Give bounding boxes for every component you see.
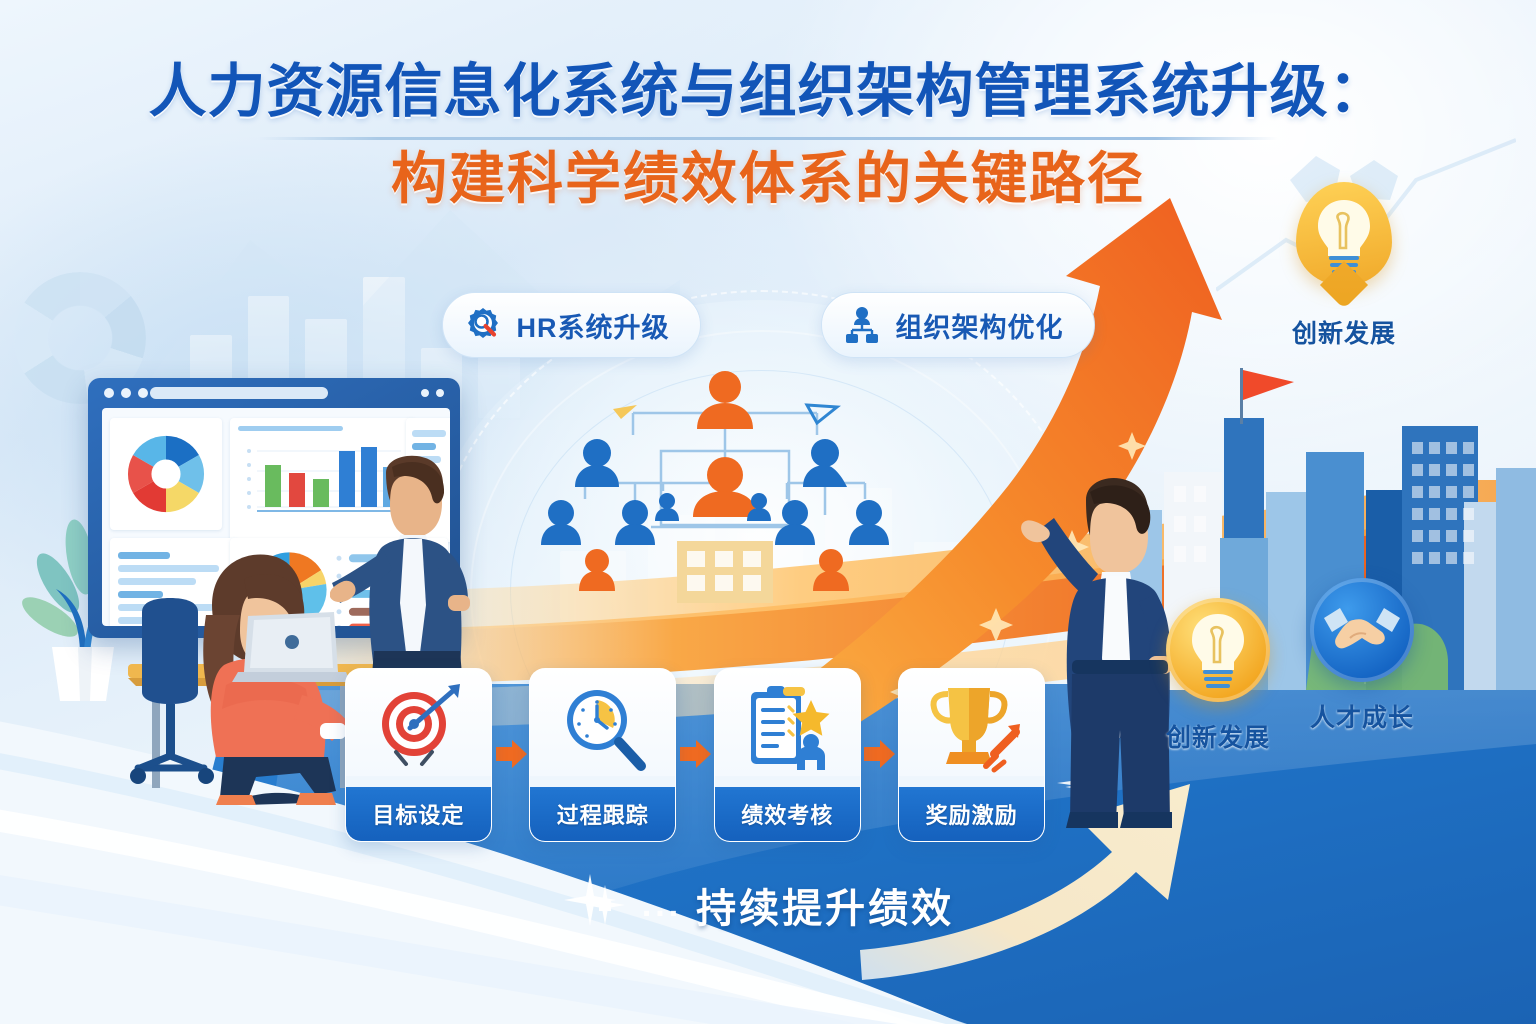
clock-magnifier-icon xyxy=(555,680,651,776)
process-arrow-icon xyxy=(492,668,530,840)
process-card-row: 目标设定 xyxy=(345,668,1045,840)
lightbulb-circle-icon xyxy=(1166,598,1270,702)
org-node-root xyxy=(697,371,753,429)
feature-talent-growth[interactable]: 人才成长 xyxy=(1310,578,1414,734)
bottom-caption: ... 持续提升绩效 xyxy=(0,876,1536,934)
target-dart-icon xyxy=(370,680,466,776)
window-dots-icon xyxy=(104,388,148,398)
process-card-process-tracking[interactable]: 过程跟踪 xyxy=(529,668,676,842)
window-urlbar xyxy=(150,387,328,399)
badge-hr-system-upgrade[interactable]: HR系统升级 xyxy=(442,292,701,358)
process-card-label: 奖励激励 xyxy=(899,787,1044,841)
process-card-label: 绩效考核 xyxy=(715,787,860,841)
title-divider xyxy=(258,137,1278,140)
feature-label: 创新发展 xyxy=(1292,314,1396,350)
feature-label: 人才成长 xyxy=(1310,698,1414,734)
org-chart-icon xyxy=(842,305,882,345)
feature-innovation-top[interactable]: 创新发展 xyxy=(1292,182,1396,350)
trophy-rocket-icon xyxy=(924,680,1020,776)
org-chart-illustration xyxy=(525,365,925,615)
org-node-mid xyxy=(693,457,757,517)
page-title: 人力资源信息化系统与组织架构管理系统升级： xyxy=(0,60,1536,125)
process-card-label: 目标设定 xyxy=(346,787,491,841)
process-card-performance-review[interactable]: 绩效考核 xyxy=(714,668,861,842)
caption-dots: ... xyxy=(642,886,682,925)
process-arrow-icon xyxy=(861,668,899,840)
process-card-goal-setting[interactable]: 目标设定 xyxy=(345,668,492,842)
sparkle-icon xyxy=(582,882,628,928)
clipboard-star-icon xyxy=(739,680,835,776)
process-card-reward-incentive[interactable]: 奖励激励 xyxy=(898,668,1045,842)
dashboard-panel-donut-chart xyxy=(110,418,222,530)
badge-org-structure-optimize[interactable]: 组织架构优化 xyxy=(821,292,1095,358)
presenter-man-icon xyxy=(330,455,490,675)
badge-label: 组织架构优化 xyxy=(896,306,1064,345)
poster-canvas: 人力资源信息化系统与组织架构管理系统升级： 构建科学绩效体系的关键路径 HR系统… xyxy=(0,0,1536,1024)
caption-text: 持续提升绩效 xyxy=(696,876,954,934)
lightbulb-pin-icon xyxy=(1296,182,1392,286)
process-arrow-icon xyxy=(676,668,714,840)
window-dots-right-icon xyxy=(421,389,444,397)
badge-label: HR系统升级 xyxy=(517,306,670,345)
process-card-label: 过程跟踪 xyxy=(530,787,675,841)
handshake-circle-icon xyxy=(1310,578,1414,682)
feature-label: 创新发展 xyxy=(1166,718,1270,754)
feature-innovation-bottom[interactable]: 创新发展 xyxy=(1166,598,1270,754)
gear-search-icon xyxy=(463,305,503,345)
